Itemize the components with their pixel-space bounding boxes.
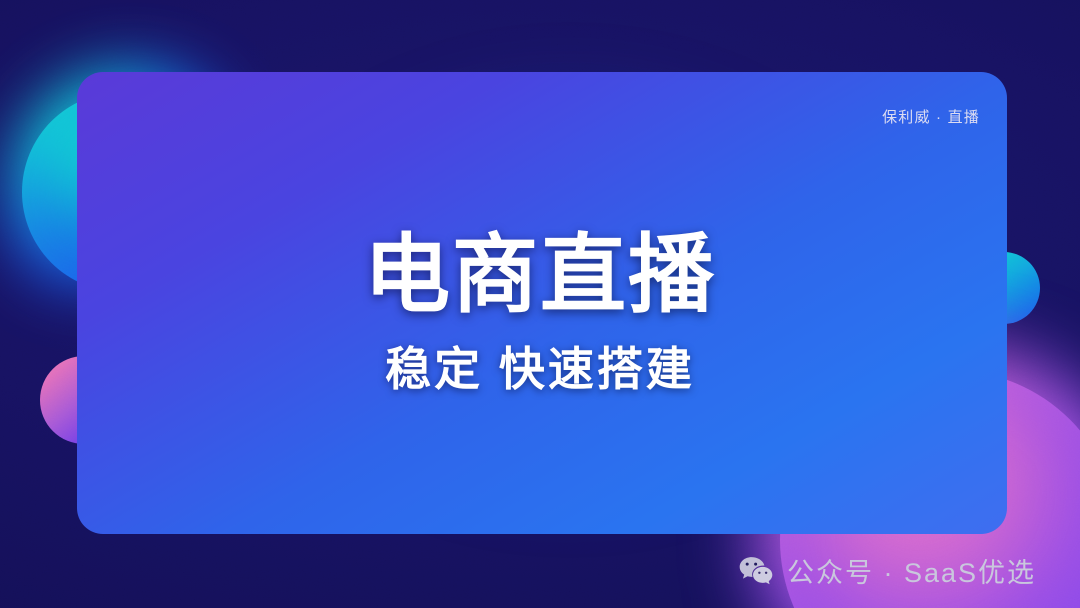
wechat-icon — [739, 556, 773, 586]
page-title: 电商直播 — [0, 232, 1080, 318]
small-teal-sphere — [254, 117, 293, 156]
brand-label: 保利威 · 直播 — [882, 106, 980, 127]
slide-canvas: 保利威 · 直播 电商直播 稳定 快速搭建 公众号 · SaaS优选 — [0, 0, 1080, 608]
wechat-footer: 公众号 · SaaS优选 — [739, 551, 1036, 590]
wechat-label: 公众号 · SaaS优选 — [787, 551, 1036, 590]
page-subtitle: 稳定 快速搭建 — [0, 346, 1080, 392]
